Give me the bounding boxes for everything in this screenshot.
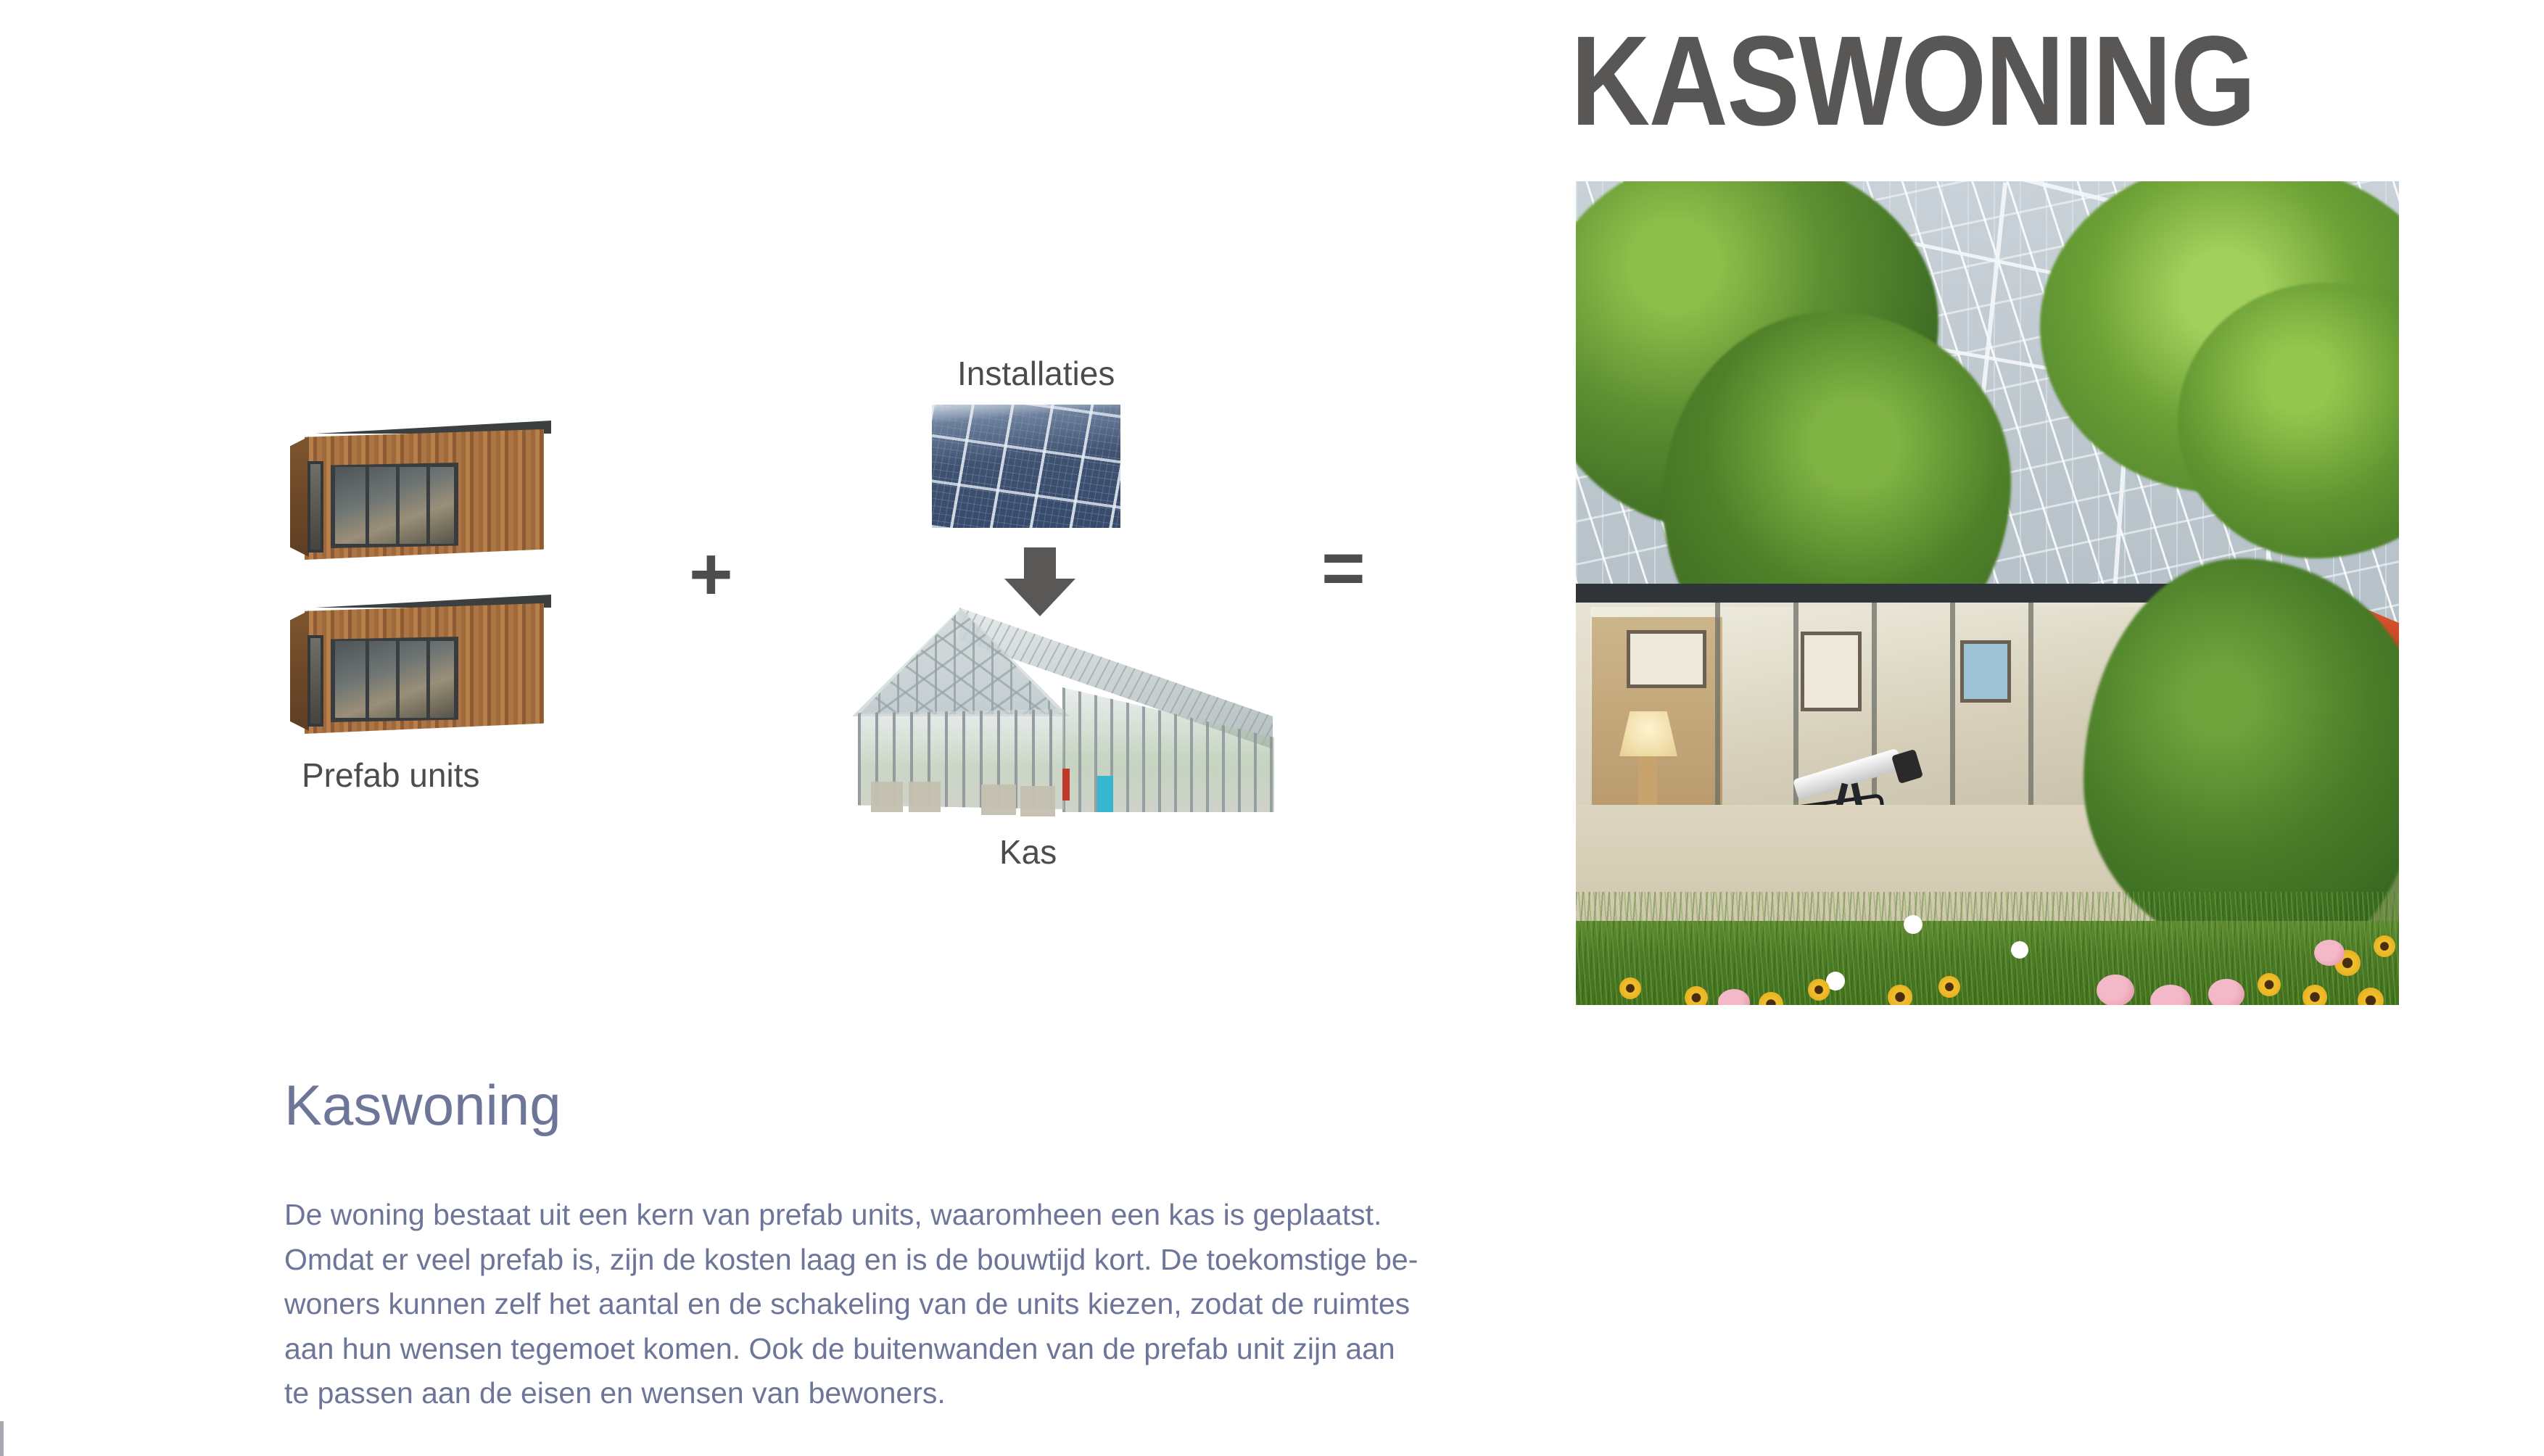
solar-panel-image bbox=[932, 405, 1120, 528]
installaties-label: Installaties bbox=[957, 354, 1115, 393]
page-title: KASWONING bbox=[1571, 16, 2295, 146]
body-line: te passen aan de eisen en wensen van bew… bbox=[284, 1371, 1517, 1416]
unit-side-window bbox=[307, 461, 323, 553]
greenhouse-panel bbox=[1020, 786, 1055, 816]
yellow-flower bbox=[1808, 979, 1830, 1001]
solar-cell-grid-icon bbox=[932, 405, 1120, 528]
door-mullion bbox=[2028, 603, 2033, 823]
unit-sliding-doors bbox=[331, 463, 458, 548]
yellow-flower bbox=[2374, 935, 2395, 957]
hero-photo-kaswoning bbox=[1576, 181, 2399, 1005]
greenhouse-panel bbox=[909, 782, 941, 812]
white-flower bbox=[1904, 915, 1923, 934]
unit-sliding-doors bbox=[331, 637, 458, 722]
pink-flower bbox=[2097, 975, 2134, 1005]
door-divider bbox=[396, 641, 400, 718]
prefab-unit-image-bottom bbox=[290, 595, 551, 740]
unit-side-window bbox=[307, 635, 323, 727]
plus-symbol: + bbox=[689, 537, 733, 612]
greenhouse-red-sign bbox=[1062, 769, 1070, 801]
greenhouse-blue-door bbox=[1097, 776, 1113, 812]
body-line: aan hun wensen tegemoet komen. Ook de bu… bbox=[284, 1327, 1517, 1372]
kas-label: Kas bbox=[999, 832, 1057, 872]
prefab-unit-image-top bbox=[290, 421, 551, 566]
prefab-units-label: Prefab units bbox=[302, 756, 479, 795]
yellow-flower bbox=[1888, 985, 1912, 1005]
yellow-flower bbox=[2258, 973, 2281, 996]
wall-picture-icon bbox=[1627, 630, 1706, 688]
hero-photo-content bbox=[1576, 181, 2399, 1005]
door-divider bbox=[366, 641, 369, 718]
door-divider bbox=[426, 467, 430, 544]
down-arrow-icon bbox=[1024, 547, 1056, 582]
wall-picture-icon bbox=[1801, 632, 1862, 711]
body-line: woners kunnen zelf het aantal en de scha… bbox=[284, 1282, 1517, 1327]
door-mullion bbox=[1950, 603, 1955, 823]
left-edge-artifact bbox=[0, 1421, 4, 1456]
slide-canvas: KASWONING bbox=[0, 0, 2544, 1456]
greenhouse-panel bbox=[981, 785, 1016, 815]
unit-side-wall bbox=[290, 611, 309, 731]
yellow-flower bbox=[1619, 977, 1641, 999]
greenhouse-image bbox=[852, 602, 1273, 812]
unit-side-wall bbox=[290, 437, 309, 557]
greenhouse-panel bbox=[871, 782, 903, 812]
body-heading: Kaswoning bbox=[284, 1077, 561, 1133]
door-divider bbox=[426, 641, 430, 718]
white-flower bbox=[2011, 941, 2028, 959]
wall-picture-icon bbox=[1960, 640, 2011, 703]
lamp-base bbox=[1638, 756, 1657, 807]
door-divider bbox=[396, 467, 400, 544]
equals-symbol: = bbox=[1321, 531, 1366, 606]
door-divider bbox=[366, 467, 369, 544]
body-line: Omdat er veel prefab is, zijn de kosten … bbox=[284, 1238, 1517, 1283]
pink-flower bbox=[2208, 979, 2244, 1005]
yellow-flower bbox=[1938, 976, 1960, 998]
yellow-flower bbox=[1685, 986, 1708, 1005]
body-line: De woning bestaat uit een kern van prefa… bbox=[284, 1193, 1517, 1238]
pink-flower bbox=[2314, 940, 2345, 966]
yellow-flower bbox=[2303, 985, 2327, 1005]
body-paragraph: De woning bestaat uit een kern van prefa… bbox=[284, 1193, 1517, 1416]
